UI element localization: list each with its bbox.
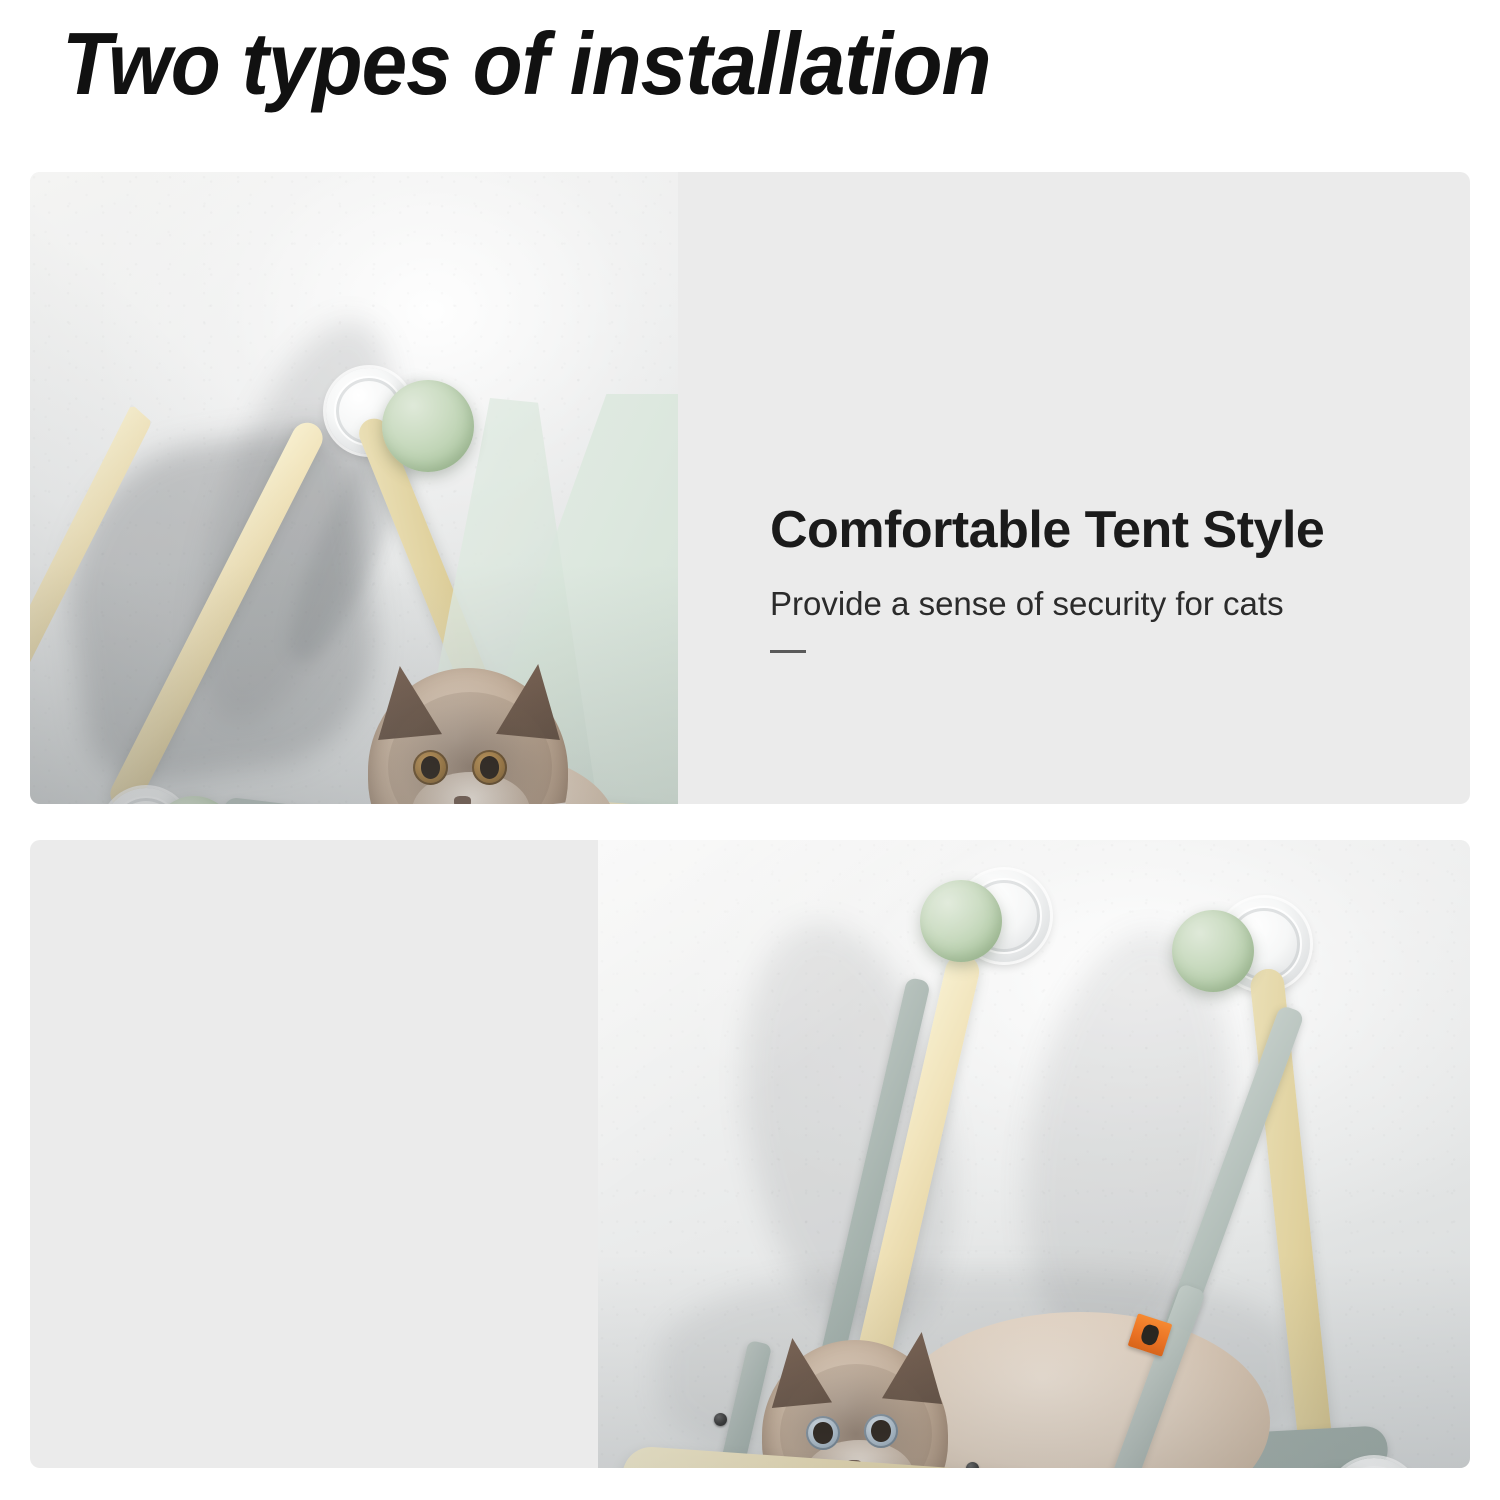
- page-title: Two types of installation: [62, 18, 991, 110]
- text-block-tent: Comfortable Tent Style Provide a sense o…: [770, 502, 1324, 653]
- heading-tent: Comfortable Tent Style: [770, 502, 1324, 559]
- product-photo-open: MewooFun: [598, 840, 1470, 1468]
- infographic-page: Two types of installation: [0, 0, 1500, 1500]
- accent-rule-tent: [770, 650, 806, 653]
- photo-vignette: [30, 172, 678, 804]
- subtitle-tent: Provide a sense of security for cats: [770, 581, 1324, 628]
- photo-vignette-open: [598, 840, 1470, 1468]
- section-panel-open: Interactive Open Style Provide an opport…: [30, 840, 1470, 1468]
- section-panel-tent: MewooFun: [30, 172, 1470, 804]
- product-photo-tent: MewooFun: [30, 172, 678, 804]
